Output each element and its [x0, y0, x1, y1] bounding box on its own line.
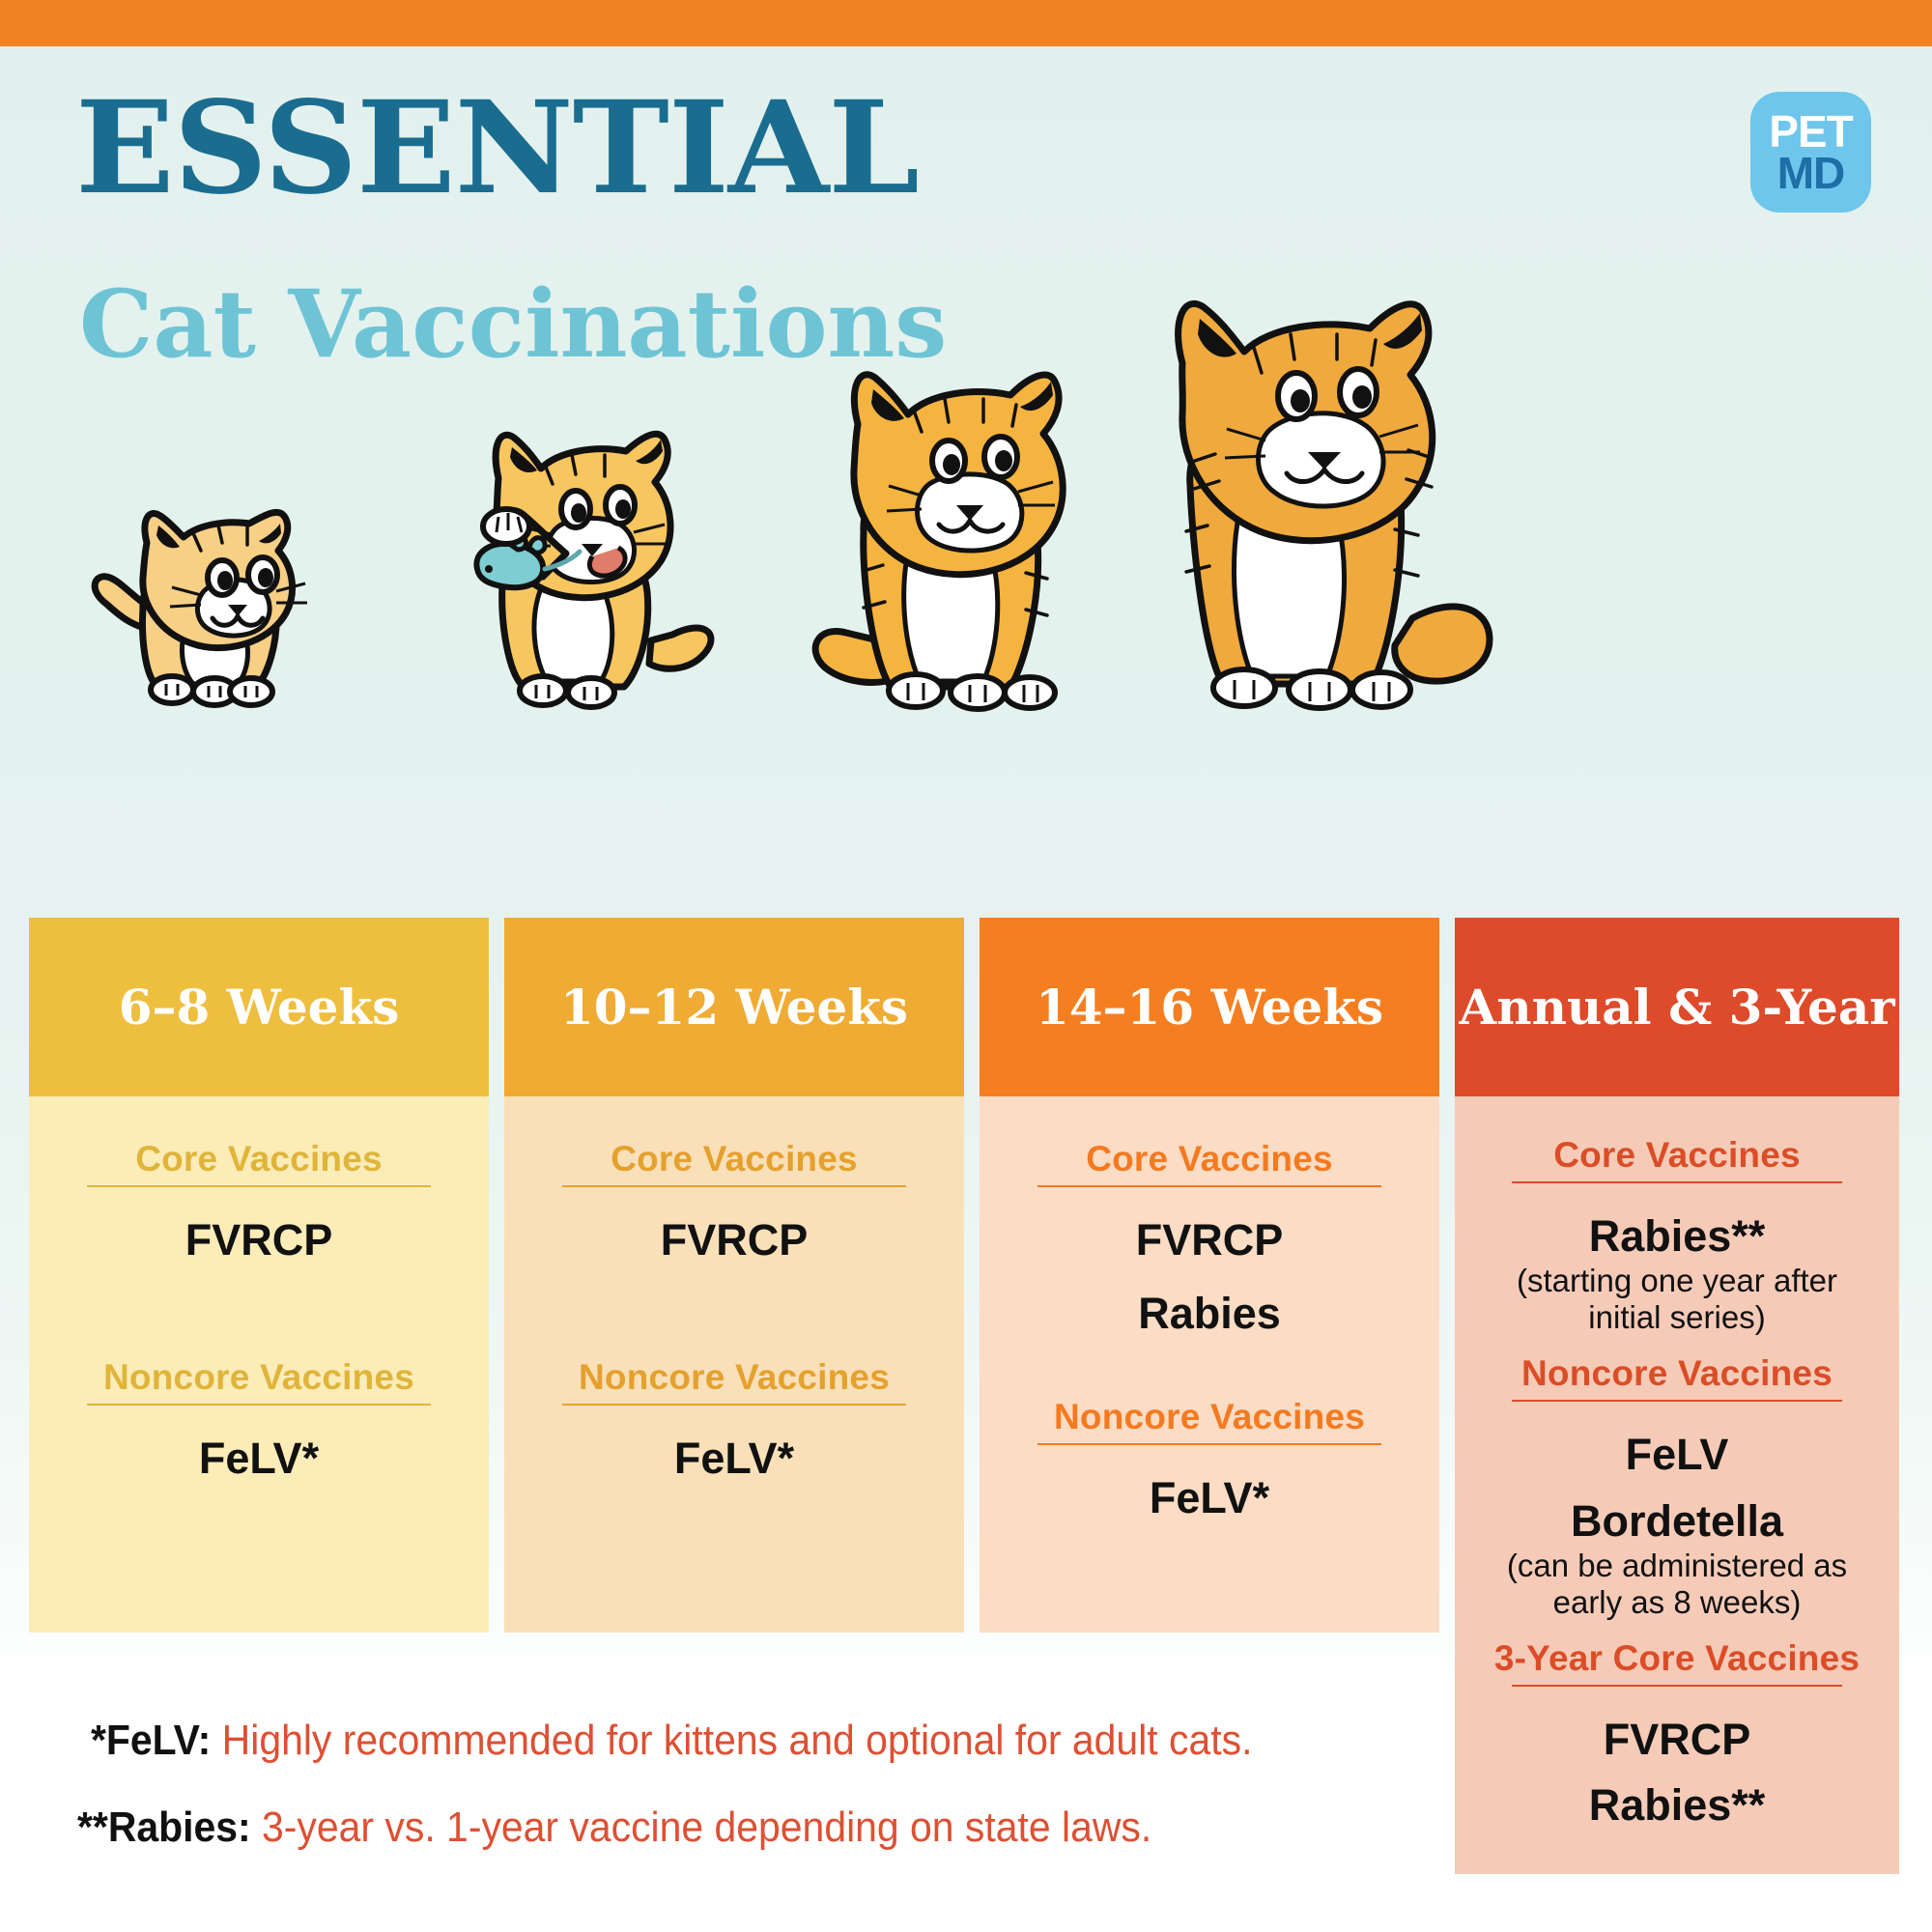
footnote-rabies: **Rabies: 3-year vs. 1-year vaccine depe…	[77, 1806, 1317, 1849]
column-body-14-16-weeks: Core Vaccines FVRCP Rabies Noncore Vacci…	[980, 1096, 1439, 1633]
column-14-16-weeks: 14–16 Weeks Core Vaccines FVRCP Rabies N…	[980, 918, 1439, 1633]
vaccine-item: FVRCP	[1005, 1216, 1414, 1264]
column-body-annual-3-year: Core Vaccines Rabies** (starting one yea…	[1455, 1096, 1899, 1874]
column-body-10-12-weeks: Core Vaccines FVRCP Noncore Vaccines FeL…	[504, 1096, 964, 1633]
footnote-text: Highly recommended for kittens and optio…	[222, 1717, 1253, 1764]
layout-spacer	[1005, 1364, 1414, 1397]
footnote-label: *FeLV:	[91, 1717, 211, 1764]
infographic-poster: ESSENTIAL Cat Vaccinations PET MD	[0, 0, 1932, 1932]
section-title-noncore: Noncore Vaccines	[529, 1357, 939, 1398]
section-title-noncore: Noncore Vaccines	[1480, 1353, 1874, 1394]
section-divider	[87, 1404, 431, 1406]
vaccine-item: Rabies	[1005, 1290, 1414, 1338]
footnote-text: 3-year vs. 1-year vaccine depending on s…	[262, 1804, 1151, 1851]
section-title-core: Core Vaccines	[1480, 1135, 1874, 1176]
vaccine-item: Rabies**	[1480, 1781, 1874, 1830]
vaccine-note: (can be administered as early as 8 weeks…	[1480, 1548, 1874, 1621]
section-title-core: Core Vaccines	[54, 1139, 464, 1179]
layout-spacer	[54, 1290, 464, 1357]
vaccine-item: FeLV*	[529, 1435, 939, 1483]
column-header-10-12-weeks: 10–12 Weeks	[504, 918, 964, 1096]
section-divider	[87, 1185, 431, 1187]
section-divider	[1512, 1181, 1843, 1183]
vaccine-item: FeLV*	[1005, 1474, 1414, 1522]
column-body-6-8-weeks: Core Vaccines FVRCP Noncore Vaccines FeL…	[29, 1096, 489, 1633]
vaccine-name: Bordetella	[1571, 1496, 1783, 1546]
footnote-label: **Rabies:	[77, 1804, 251, 1851]
section-divider	[562, 1185, 906, 1187]
column-10-12-weeks: 10–12 Weeks Core Vaccines FVRCP Noncore …	[504, 918, 964, 1633]
column-header-14-16-weeks: 14–16 Weeks	[980, 918, 1439, 1096]
section-title-3-year-core: 3-Year Core Vaccines	[1480, 1638, 1874, 1679]
section-divider	[562, 1404, 906, 1406]
section-title-core: Core Vaccines	[529, 1139, 939, 1179]
column-6-8-weeks: 6–8 Weeks Core Vaccines FVRCP Noncore Va…	[29, 918, 489, 1633]
vaccine-item: Bordetella (can be administered as early…	[1480, 1497, 1874, 1621]
section-divider	[1512, 1400, 1843, 1402]
vaccine-item: FVRCP	[54, 1216, 464, 1264]
section-title-noncore: Noncore Vaccines	[54, 1357, 464, 1398]
section-divider	[1037, 1443, 1381, 1445]
footnotes: *FeLV: Highly recommended for kittens an…	[77, 1719, 1410, 1893]
column-annual-3-year: Annual & 3-Year Core Vaccines Rabies** (…	[1455, 918, 1899, 1874]
footnote-felv: *FeLV: Highly recommended for kittens an…	[91, 1719, 1318, 1762]
section-title-core: Core Vaccines	[1005, 1139, 1414, 1179]
section-divider	[1512, 1685, 1843, 1687]
vaccine-item: FVRCP	[1480, 1716, 1874, 1764]
vaccine-note: (starting one year after initial series)	[1480, 1263, 1874, 1336]
section-divider	[1037, 1185, 1381, 1187]
vaccine-item: FeLV*	[54, 1435, 464, 1483]
column-header-6-8-weeks: 6–8 Weeks	[29, 918, 489, 1096]
vaccine-item: FVRCP	[529, 1216, 939, 1264]
vaccination-schedule-columns: 6–8 Weeks Core Vaccines FVRCP Noncore Va…	[0, 0, 1932, 1932]
section-title-noncore: Noncore Vaccines	[1005, 1397, 1414, 1437]
vaccine-name: Rabies**	[1589, 1211, 1766, 1261]
vaccine-item: FeLV	[1480, 1431, 1874, 1479]
layout-spacer	[529, 1290, 939, 1357]
vaccine-item: Rabies** (starting one year after initia…	[1480, 1212, 1874, 1336]
column-header-annual-3-year: Annual & 3-Year	[1455, 918, 1899, 1096]
